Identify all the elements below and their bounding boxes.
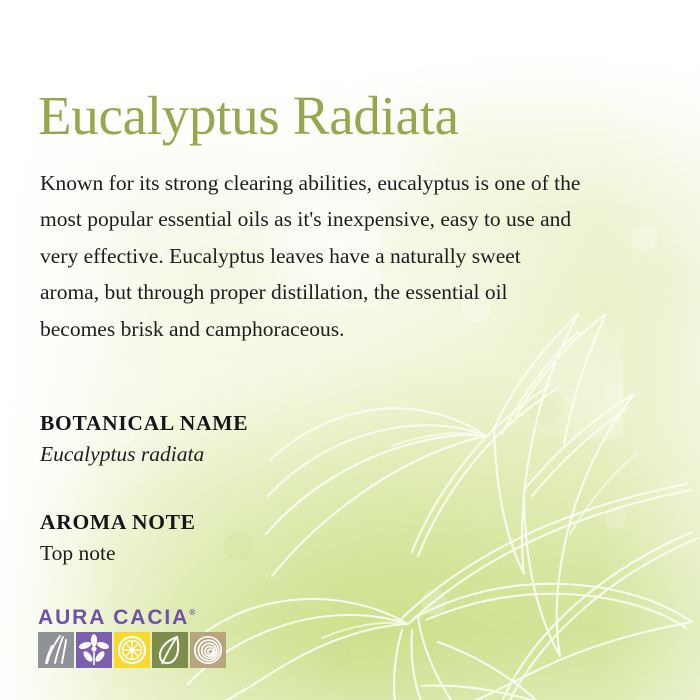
brand-icon-tiles bbox=[38, 632, 238, 668]
logo-tile-flower bbox=[76, 632, 112, 668]
product-description: Known for its strong clearing abilities,… bbox=[40, 165, 585, 348]
brand-wordmark-text: AURA CACIA bbox=[38, 606, 189, 629]
brand-wordmark: AURA CACIA® bbox=[38, 602, 238, 629]
logo-tile-wood-rings bbox=[190, 632, 226, 668]
registered-trademark-mark: ® bbox=[189, 608, 195, 617]
brand-logo: AURA CACIA® bbox=[38, 602, 238, 668]
field-label-aroma-note: AROMA NOTE bbox=[40, 508, 196, 536]
logo-tile-roots-grass bbox=[38, 632, 74, 668]
field-value-aroma-note: Top note bbox=[40, 538, 196, 568]
product-info-card: Eucalyptus Radiata Known for its strong … bbox=[0, 0, 700, 700]
logo-tile-citrus-slice bbox=[114, 632, 150, 668]
logo-tile-leaf bbox=[152, 632, 188, 668]
page-title: Eucalyptus Radiata bbox=[38, 87, 459, 145]
field-botanical-name: BOTANICAL NAME Eucalyptus radiata bbox=[40, 409, 248, 469]
field-label-botanical-name: BOTANICAL NAME bbox=[40, 409, 248, 437]
field-value-botanical-name: Eucalyptus radiata bbox=[40, 439, 248, 469]
citrus-slice-icon bbox=[119, 637, 145, 663]
field-aroma-note: AROMA NOTE Top note bbox=[40, 508, 196, 568]
